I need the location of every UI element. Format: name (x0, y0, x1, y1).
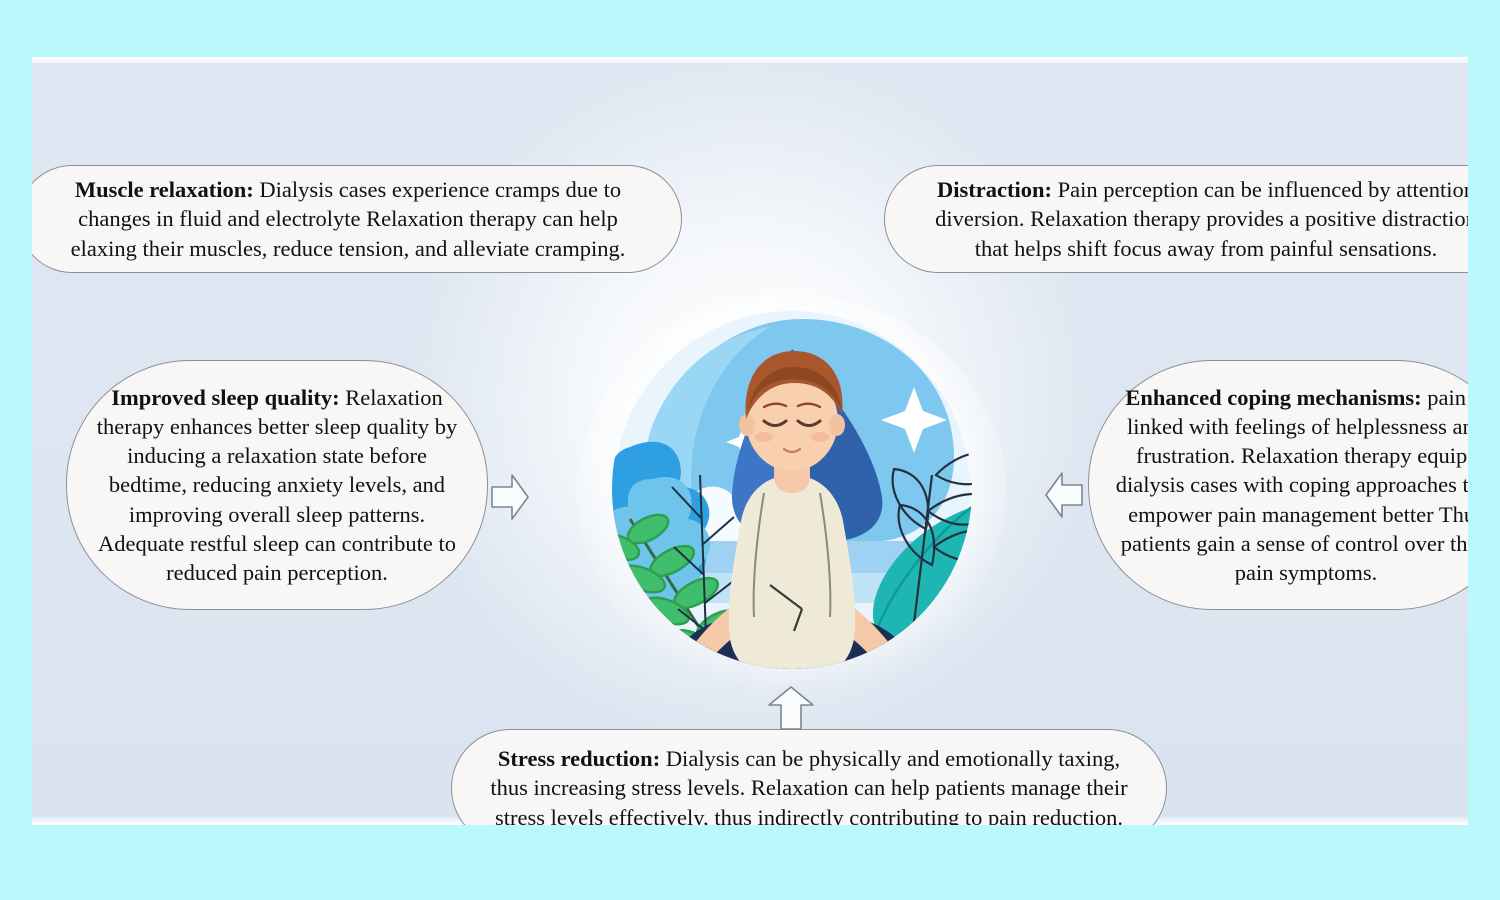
arrow-up-icon (765, 685, 817, 736)
callout-muscle-relaxation: Muscle relaxation: Dialysis cases experi… (32, 165, 682, 273)
callout-enhanced-coping-mechanisms: Enhanced coping mechanisms: pain is link… (1088, 360, 1468, 610)
callout-heading-stress-reduction: Stress reduction: (498, 746, 660, 771)
content-panel: Muscle relaxation: Dialysis cases experi… (32, 57, 1468, 825)
callout-heading-improved-sleep-quality: Improved sleep quality: (111, 385, 339, 410)
arrow-right-icon (490, 471, 530, 528)
infographic-page: Muscle relaxation: Dialysis cases experi… (0, 0, 1500, 900)
callout-improved-sleep-quality: Improved sleep quality: Relaxation thera… (66, 360, 488, 610)
callout-heading-distraction: Distraction: (937, 177, 1052, 202)
callout-heading-muscle-relaxation: Muscle relaxation: (75, 177, 254, 202)
meditating-person-illustration (502, 279, 1082, 729)
callout-heading-enhanced-coping-mechanisms: Enhanced coping mechanisms: (1125, 385, 1421, 410)
callout-distraction: Distraction: Pain perception can be infl… (884, 165, 1468, 273)
callout-body-improved-sleep-quality: Relaxation therapy enhances better sleep… (97, 385, 457, 586)
callout-body-enhanced-coping-mechanisms: pain is linked with feelings of helpless… (1116, 385, 1468, 586)
callout-stress-reduction: Stress reduction: Dialysis can be physic… (451, 729, 1167, 825)
arrow-left-icon (1044, 469, 1084, 526)
panel-top-strip (32, 57, 1468, 63)
